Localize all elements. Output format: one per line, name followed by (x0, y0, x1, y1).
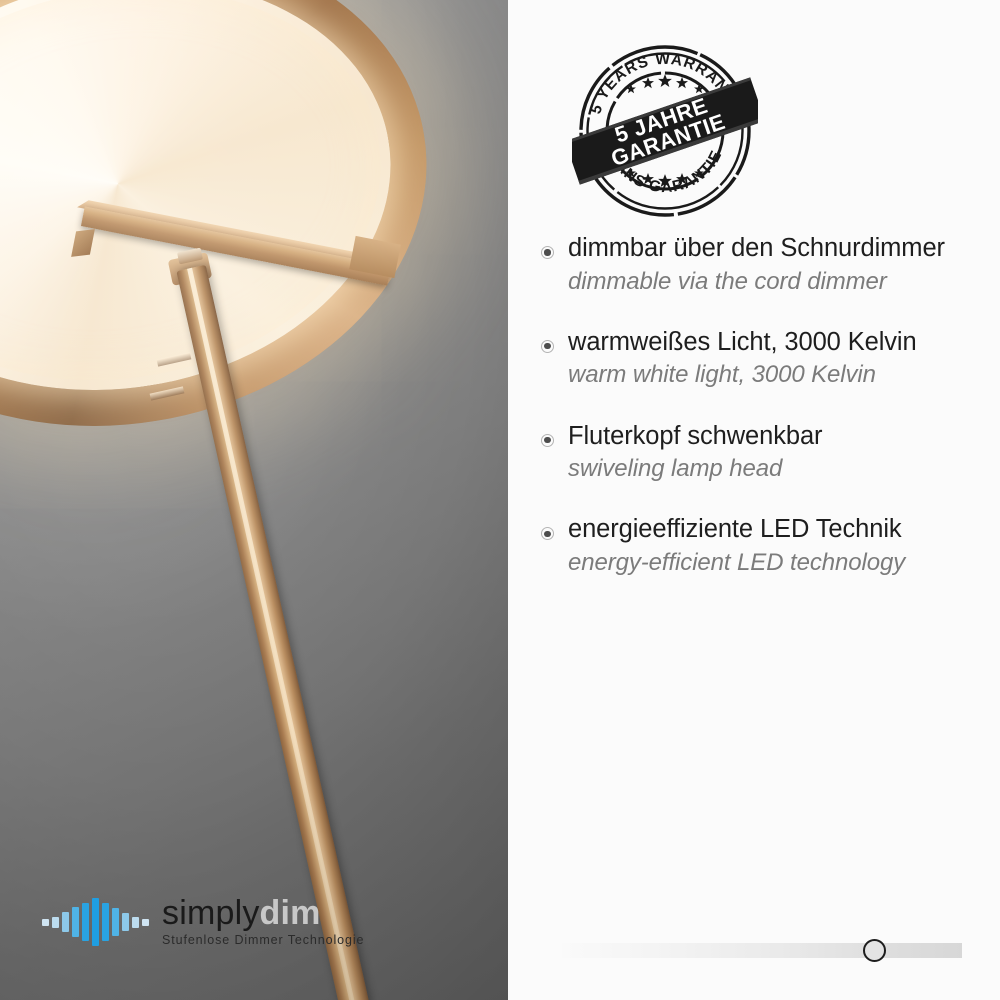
equalizer-bar-5 (92, 898, 99, 946)
product-feature-sheet: simplydim Stufenlose Dimmer Technologie (0, 0, 1000, 1000)
equalizer-icon (42, 896, 149, 948)
photo-vignette (0, 0, 508, 1000)
logo-main-text: simplydim (162, 897, 364, 930)
bullet-icon (541, 434, 554, 447)
feature-label-de: Fluterkopf schwenkbar (568, 420, 986, 454)
feature-label-de: warmweißes Licht, 3000 Kelvin (568, 326, 986, 360)
feature-label-de: dimmbar über den Schnurdimmer (568, 232, 986, 266)
stamp-stars-top (626, 74, 704, 93)
logo-wordmark: simplydim Stufenlose Dimmer Technologie (162, 897, 364, 947)
bullet-icon (541, 246, 554, 259)
info-panel: 5 YEARS WARRANTY 5 ANS GARANTIE (508, 0, 1000, 1000)
feature-item: dimmbar über den Schnurdimmer dimmable v… (534, 232, 986, 298)
feature-label-en: warm white light, 3000 Kelvin (568, 359, 986, 391)
equalizer-bar-8 (122, 913, 129, 931)
feature-label-en: energy-efficient LED technology (568, 547, 986, 579)
feature-item: warmweißes Licht, 3000 Kelvin warm white… (534, 326, 986, 392)
equalizer-bar-2 (62, 912, 69, 932)
equalizer-bar-0 (42, 919, 49, 926)
feature-label-en: dimmable via the cord dimmer (568, 266, 986, 298)
simplydim-logo: simplydim Stufenlose Dimmer Technologie (42, 896, 364, 948)
dimmer-slider-track[interactable] (562, 943, 962, 958)
bullet-icon (541, 527, 554, 540)
equalizer-bar-6 (102, 903, 109, 941)
warranty-stamp-icon: 5 YEARS WARRANTY 5 ANS GARANTIE (572, 38, 758, 224)
equalizer-bar-7 (112, 908, 119, 936)
product-photo-panel: simplydim Stufenlose Dimmer Technologie (0, 0, 508, 1000)
logo-word-dim: dim (260, 894, 321, 932)
logo-tagline: Stufenlose Dimmer Technologie (162, 933, 364, 947)
equalizer-bar-3 (72, 907, 79, 937)
equalizer-bar-4 (82, 903, 89, 941)
feature-item: Fluterkopf schwenkbar swiveling lamp hea… (534, 420, 986, 486)
equalizer-bar-10 (142, 919, 149, 926)
logo-word-simply: simply (162, 894, 260, 932)
feature-label-en: swiveling lamp head (568, 453, 986, 485)
feature-list: dimmbar über den Schnurdimmer dimmable v… (534, 232, 986, 607)
dimmer-slider-knob[interactable] (863, 939, 886, 962)
equalizer-bar-9 (132, 917, 139, 928)
bullet-icon (541, 340, 554, 353)
feature-item: energieeffiziente LED Technik energy-eff… (534, 513, 986, 579)
dimmer-slider[interactable] (562, 939, 962, 961)
equalizer-bar-1 (52, 917, 59, 928)
feature-label-de: energieeffiziente LED Technik (568, 513, 986, 547)
